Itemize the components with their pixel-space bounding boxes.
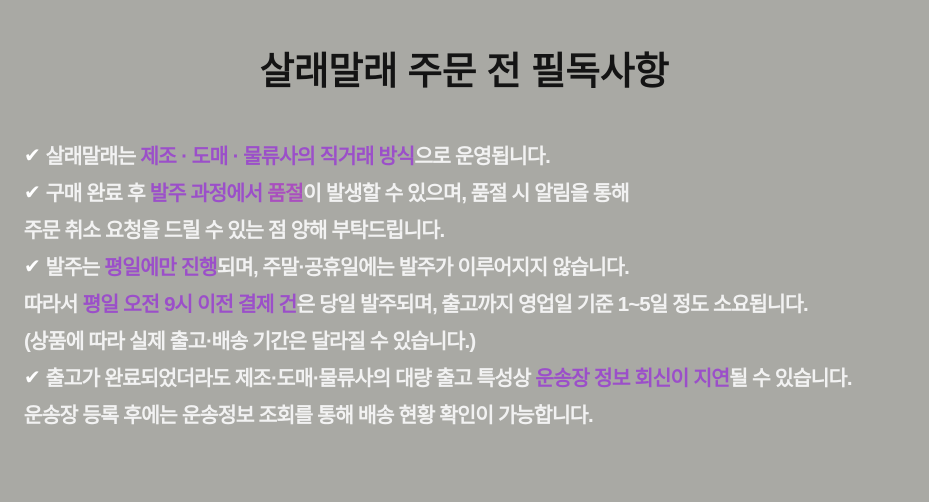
check-mark-icon: ✔ <box>24 249 40 286</box>
notice-text: 운송장 등록 후에는 운송정보 조회를 통해 배송 현황 확인이 가능합니다. <box>24 404 593 427</box>
check-mark-icon: ✔ <box>24 360 40 397</box>
notice-text: 되며, 주말·공휴일에는 발주가 이루어지지 않습니다. <box>217 256 629 279</box>
notice-line: ✔살래말래는 제조 · 도매 · 물류사의 직거래 방식으로 운영됩니다. <box>24 138 914 175</box>
check-mark-icon: ✔ <box>24 175 40 212</box>
notice-line: ✔구매 완료 후 발주 과정에서 품절이 발생할 수 있으며, 품절 시 알림을… <box>24 175 914 212</box>
notice-highlight: 제조 · 도매 · 물류사의 직거래 방식 <box>140 145 414 168</box>
notice-line: 운송장 등록 후에는 운송정보 조회를 통해 배송 현황 확인이 가능합니다. <box>24 397 914 434</box>
notice-line: ✔발주는 평일에만 진행되며, 주말·공휴일에는 발주가 이루어지지 않습니다. <box>24 249 914 286</box>
notice-text: 이 발생할 수 있으며, 품절 시 알림을 통해 <box>303 182 629 205</box>
notice-body: ✔살래말래는 제조 · 도매 · 물류사의 직거래 방식으로 운영됩니다.✔구매… <box>24 138 914 434</box>
notice-text: 으로 운영됩니다. <box>415 145 550 168</box>
notice-line: 주문 취소 요청을 드릴 수 있는 점 양해 부탁드립니다. <box>24 212 914 249</box>
notice-text: 따라서 <box>24 293 83 316</box>
notice-text: 발주는 <box>46 256 105 279</box>
notice-highlight: 평일에만 진행 <box>105 256 218 279</box>
notice-text: 주문 취소 요청을 드릴 수 있는 점 양해 부탁드립니다. <box>24 219 444 242</box>
notice-line: 따라서 평일 오전 9시 이전 결제 건은 당일 발주되며, 출고까지 영업일 … <box>24 286 914 323</box>
notice-text: 출고가 완료되었더라도 제조·도매·물류사의 대량 출고 특성상 <box>46 367 536 390</box>
notice-text: 은 당일 발주되며, 출고까지 영업일 기준 1~5일 정도 소요됩니다. <box>297 293 808 316</box>
notice-banner: 살래말래 주문 전 필독사항 ✔살래말래는 제조 · 도매 · 물류사의 직거래… <box>0 0 929 502</box>
notice-text: 살래말래는 <box>46 145 141 168</box>
notice-text: 될 수 있습니다. <box>730 367 852 390</box>
notice-text: (상품에 따라 실제 출고·배송 기간은 달라질 수 있습니다.) <box>24 330 475 353</box>
notice-highlight: 발주 과정에서 <box>150 182 267 205</box>
notice-text: 구매 완료 후 <box>46 182 150 205</box>
notice-highlight: 품절 <box>267 182 303 205</box>
notice-highlight: 운송장 정보 회신이 지연 <box>536 367 730 390</box>
page-title: 살래말래 주문 전 필독사항 <box>0 52 929 94</box>
notice-highlight: 평일 오전 9시 이전 결제 건 <box>83 293 297 316</box>
notice-line: (상품에 따라 실제 출고·배송 기간은 달라질 수 있습니다.) <box>24 323 914 360</box>
notice-line: ✔출고가 완료되었더라도 제조·도매·물류사의 대량 출고 특성상 운송장 정보… <box>24 360 914 397</box>
check-mark-icon: ✔ <box>24 138 40 175</box>
